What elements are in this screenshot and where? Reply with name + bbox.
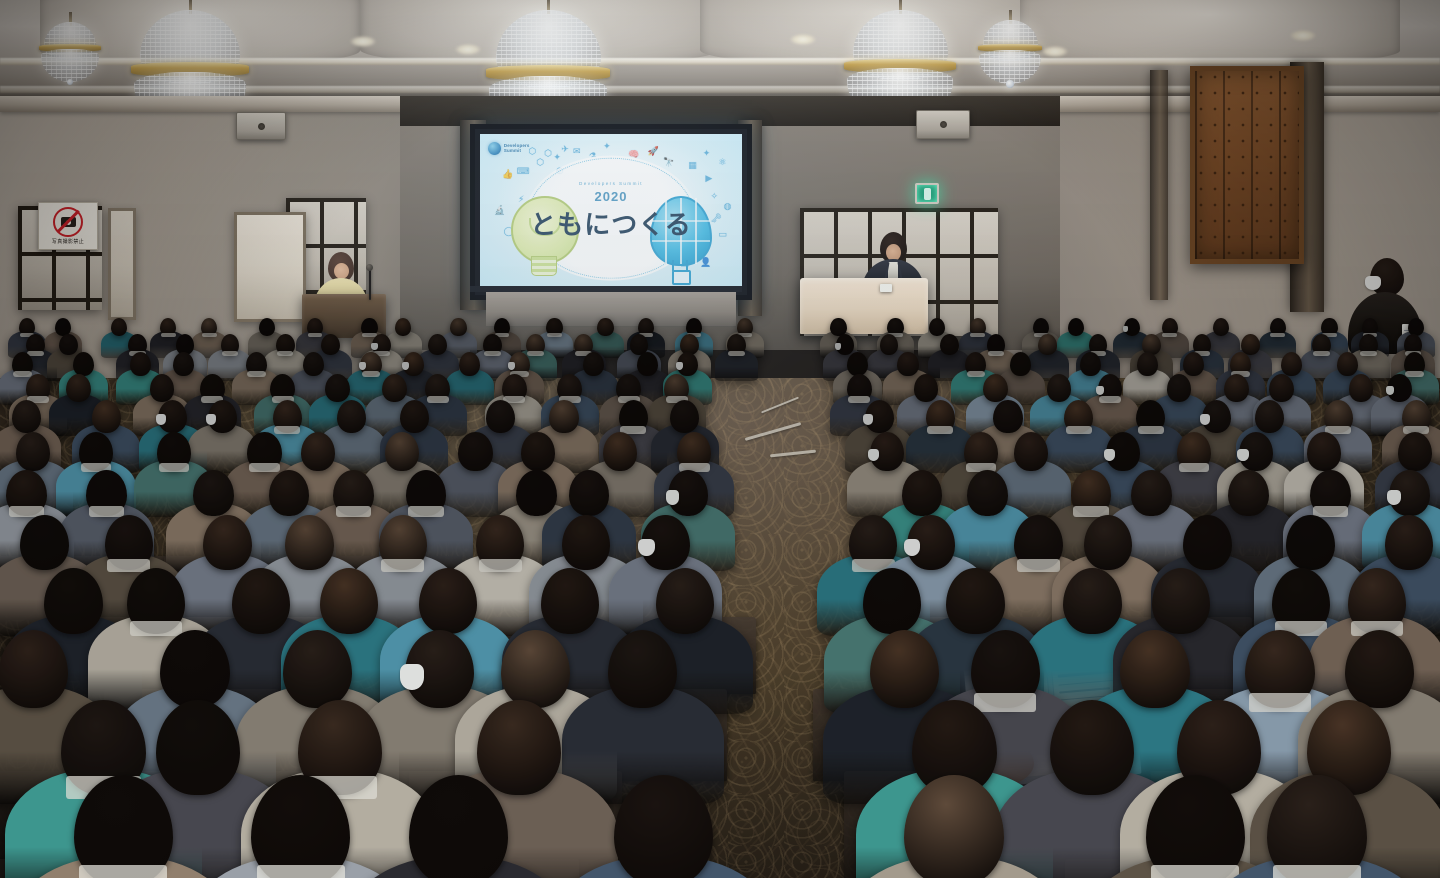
chandelier <box>31 12 109 90</box>
audience-head <box>193 470 233 516</box>
audience-head <box>283 630 352 708</box>
audience-head <box>20 515 68 570</box>
slide-doodle-icon: ✦ <box>553 154 561 163</box>
slide-doodle-icon: ◍ <box>724 203 732 212</box>
audience-collar <box>257 865 345 878</box>
audience-head <box>1014 432 1048 471</box>
audience-head <box>66 374 91 402</box>
microphone-left <box>366 264 373 271</box>
microphone-stand-left <box>369 268 371 300</box>
pillar-right-inner <box>1150 70 1168 300</box>
no-photography-sign-label: 写真撮影禁止 <box>52 238 84 245</box>
audience-head <box>541 568 599 634</box>
podium-name-card <box>880 284 892 292</box>
audience-head <box>1269 374 1294 402</box>
audience-head <box>1137 352 1158 376</box>
ceiling-downlight <box>350 36 376 47</box>
face-mask-icon <box>835 343 841 350</box>
audience-head <box>486 400 515 433</box>
audience-head <box>74 775 173 878</box>
audience-head <box>1398 432 1432 471</box>
wood-slat-texture <box>1195 71 1299 259</box>
audience-head <box>458 432 492 471</box>
face-mask-icon <box>1365 276 1381 290</box>
ceiling-coffer <box>1020 0 1400 66</box>
audience-head <box>1047 374 1072 402</box>
audience-head <box>160 630 229 708</box>
ceiling-downlight <box>1290 30 1316 41</box>
audience-head <box>1267 775 1366 878</box>
audience-head <box>459 352 480 376</box>
audience-head <box>1224 374 1249 402</box>
audience-head <box>1337 352 1358 376</box>
slide-doodle-icon: 🚀 <box>648 148 659 157</box>
audience-head <box>320 568 378 634</box>
audience-head <box>967 470 1007 516</box>
audience-head <box>656 568 714 634</box>
face-mask-icon <box>1237 449 1249 461</box>
slide-doodle-icon: ⚛ <box>718 159 726 168</box>
audience-head <box>983 374 1008 402</box>
audience-member <box>547 775 779 878</box>
audience-head <box>325 374 350 402</box>
projection-screen: ⬡⬡⬡✉✈✦🜨⌨👍⚛✦🔭▦🚀🧠⚗▶✦◌⚡🔬◍✧🗝◷🖱⬆📐📏⚘🖨👤♟▭◯✦ Dev… <box>470 124 752 300</box>
face-mask-icon <box>666 490 680 505</box>
audience-head <box>130 352 151 376</box>
audience-head <box>1131 470 1171 516</box>
wall-speaker-left <box>236 112 286 140</box>
audience-head <box>0 630 68 708</box>
audience-head <box>12 400 41 433</box>
audience-head <box>400 400 429 433</box>
slide-doodle-icon: ✈ <box>561 146 569 155</box>
emergency-exit-sign <box>915 183 939 204</box>
audience-head <box>614 775 713 878</box>
audience-head <box>1307 432 1341 471</box>
audience-head <box>382 374 407 402</box>
logo-line-2: Summit <box>504 148 530 154</box>
audience-head <box>501 630 570 708</box>
slide-arc-text: Developers Summit <box>579 181 643 186</box>
audience-head <box>914 374 939 402</box>
face-mask-icon <box>1200 414 1210 425</box>
audience-head <box>1345 630 1414 708</box>
face-mask-icon <box>400 664 424 689</box>
slide-doodle-icon: 👍 <box>502 171 513 180</box>
slide-doodle-icon: ⬡ <box>536 159 544 168</box>
audience-member <box>838 775 1070 878</box>
slide-doodle-icon: ▭ <box>718 231 727 240</box>
audience-head <box>1183 515 1231 570</box>
slide-doodle-icon: ▶ <box>705 175 712 184</box>
audience-head <box>993 400 1022 433</box>
globe-logo-icon <box>488 142 501 155</box>
audience-head <box>1152 568 1210 634</box>
audience-head <box>904 775 1003 878</box>
audience-member <box>715 334 759 387</box>
presentation-slide: ⬡⬡⬡✉✈✦🜨⌨👍⚛✦🔭▦🚀🧠⚗▶✦◌⚡🔬◍✧🗝◷🖱⬆📐📏⚘🖨👤♟▭◯✦ Dev… <box>480 134 742 290</box>
audience-head <box>203 515 251 570</box>
audience-head <box>549 400 578 433</box>
audience-head <box>16 432 50 471</box>
audience-head <box>419 568 477 634</box>
screen-bottom-bar <box>470 286 742 292</box>
audience-collar <box>1273 865 1361 878</box>
audience-head <box>569 470 609 516</box>
no-camera-icon <box>53 207 83 237</box>
running-person-icon <box>924 188 931 200</box>
audience-head <box>251 775 350 878</box>
slide-doodle-icon: ✉ <box>573 148 581 157</box>
audience-head <box>946 568 1004 634</box>
audience-head <box>1084 515 1132 570</box>
audience-head <box>173 352 194 376</box>
audience-head <box>409 775 508 878</box>
chandelier <box>969 10 1052 93</box>
face-mask-icon <box>206 414 216 425</box>
slide-doodle-icon: ⬡ <box>528 148 536 157</box>
door-left-edge[interactable] <box>108 208 136 320</box>
audience-head <box>670 400 699 433</box>
face-mask-icon <box>371 343 377 350</box>
audience-head <box>92 400 121 433</box>
audience-head <box>1281 352 1302 376</box>
audience-head <box>902 470 942 516</box>
audience-collar <box>1270 333 1284 337</box>
audience-head <box>603 432 637 471</box>
audience-head <box>583 352 604 376</box>
audience-head <box>1255 400 1284 433</box>
slide-doodle-icon: ▦ <box>688 162 697 171</box>
audience-head <box>301 432 335 471</box>
audience-head <box>385 432 419 471</box>
audience-head <box>73 352 94 376</box>
audience-head <box>285 515 333 570</box>
audience-head <box>637 352 658 376</box>
audience-head <box>847 352 868 376</box>
slide-doodle-icon: ✦ <box>703 150 711 159</box>
audience-head <box>1080 352 1101 376</box>
slide-doodle-icon: 🔬 <box>494 207 505 216</box>
door-left[interactable] <box>234 212 306 322</box>
audience-collar <box>79 865 167 878</box>
developers-summit-logo: Developers Summit <box>488 142 530 155</box>
audience-head <box>608 630 677 708</box>
presenter-face <box>334 263 349 279</box>
audience-head <box>1183 352 1204 376</box>
ceiling-downlight <box>790 34 816 45</box>
wall-speaker-right <box>916 110 970 139</box>
conference-hall-photo: 写真撮影禁止 ⬡⬡⬡✉✈✦🜨⌨👍⚛✦🔭▦🚀🧠⚗▶✦◌⚡🔬◍✧🗝◷🖱⬆📐📏⚘🖨👤♟… <box>0 0 1440 878</box>
audience-member <box>1201 775 1433 878</box>
slide-doodle-icon: 🔭 <box>663 159 674 168</box>
no-photography-sign: 写真撮影禁止 <box>38 202 98 250</box>
audience-head <box>303 352 324 376</box>
perforated-wood-acoustic-panel <box>1190 66 1304 264</box>
face-mask-icon <box>402 362 409 370</box>
slide-doodle-icon: 🗝 <box>711 215 722 224</box>
audience-head <box>1120 630 1189 708</box>
audience-head <box>521 432 555 471</box>
slide-title: ともにつくる <box>530 204 691 241</box>
slide-doodle-icon: ⬡ <box>544 150 552 159</box>
audience-head <box>1228 470 1268 516</box>
slide-year: 2020 <box>595 189 628 204</box>
audience-head <box>562 515 610 570</box>
audience-head <box>269 470 309 516</box>
audience-member <box>342 775 574 878</box>
audience-head <box>1167 374 1192 402</box>
face-mask-icon <box>863 414 873 425</box>
audience-head <box>1286 515 1334 570</box>
audience-head <box>337 400 366 433</box>
slide-doodle-icon: ✧ <box>711 193 719 202</box>
audience-collar <box>728 351 745 356</box>
face-mask-icon <box>1387 490 1401 505</box>
audience-head <box>1010 352 1031 376</box>
audience-head <box>897 352 918 376</box>
slide-doodle-icon: ✦ <box>603 143 611 152</box>
slide-doodle-icon: ⌨ <box>517 168 530 177</box>
audience-head <box>1385 515 1433 570</box>
audience-head <box>150 374 175 402</box>
